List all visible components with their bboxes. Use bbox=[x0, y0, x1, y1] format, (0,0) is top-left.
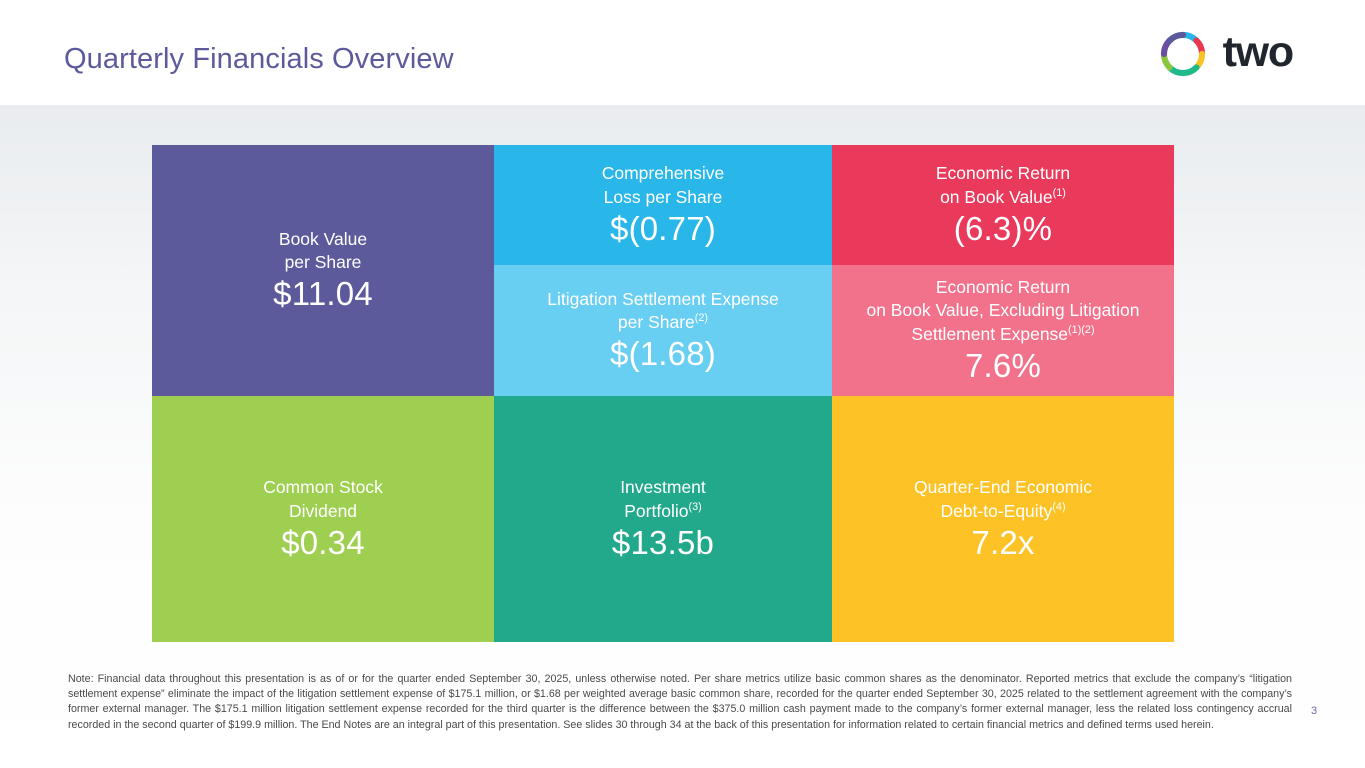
metric-footnote-ref: (4) bbox=[1052, 501, 1065, 513]
metric-label-line1: Economic Return bbox=[936, 277, 1070, 297]
metric-tile-quarter-end-economic-debt-to-equity[interactable]: Quarter-End Economic Debt-to-Equity(4) 7… bbox=[832, 396, 1174, 642]
metric-label-line1: Common Stock bbox=[263, 477, 383, 497]
metric-label: Common Stock Dividend bbox=[263, 476, 383, 523]
metric-tile-economic-return-excluding-litigation[interactable]: Economic Return on Book Value, Excluding… bbox=[832, 265, 1174, 396]
metric-value: (6.3)% bbox=[954, 211, 1052, 248]
metric-tile-comprehensive-loss-per-share[interactable]: Comprehensive Loss per Share $(0.77) bbox=[494, 145, 832, 265]
metric-label-line2: on Book Value bbox=[940, 187, 1053, 207]
metric-value: $(1.68) bbox=[610, 336, 716, 373]
metric-label-line1: Comprehensive bbox=[602, 163, 725, 183]
metric-value: $11.04 bbox=[273, 276, 373, 313]
metric-label: Investment Portfolio(3) bbox=[620, 476, 706, 523]
slide: Quarterly Financials Overview two bbox=[0, 0, 1365, 768]
metric-tile-investment-portfolio[interactable]: Investment Portfolio(3) $13.5b bbox=[494, 396, 832, 642]
metrics-grid: Book Value per Share $11.04 Comprehensiv… bbox=[152, 145, 1174, 642]
metric-label: Quarter-End Economic Debt-to-Equity(4) bbox=[914, 476, 1092, 523]
metric-label-line2: Debt-to-Equity bbox=[940, 501, 1052, 521]
metric-footnote-ref: (3) bbox=[688, 501, 701, 513]
page-title: Quarterly Financials Overview bbox=[64, 43, 454, 76]
metric-label-line1: Book Value bbox=[279, 229, 367, 249]
metric-tile-economic-return-on-book-value[interactable]: Economic Return on Book Value(1) (6.3)% bbox=[832, 145, 1174, 265]
company-logo: two bbox=[1155, 26, 1293, 82]
metric-tile-common-stock-dividend[interactable]: Common Stock Dividend $0.34 bbox=[152, 396, 494, 642]
metric-label-line2: Loss per Share bbox=[604, 187, 723, 207]
slide-header: Quarterly Financials Overview two bbox=[0, 0, 1365, 105]
metric-label-line2: on Book Value, Excluding Litigation bbox=[866, 300, 1139, 320]
metric-tile-litigation-settlement-expense-per-share[interactable]: Litigation Settlement Expense per Share(… bbox=[494, 265, 832, 396]
metric-value: $0.34 bbox=[281, 525, 365, 562]
metric-label-line1: Litigation Settlement Expense bbox=[547, 289, 779, 309]
two-harbors-star-icon bbox=[1155, 26, 1211, 82]
metric-footnote-ref: (1)(2) bbox=[1068, 324, 1095, 336]
metric-label-line1: Quarter-End Economic bbox=[914, 477, 1092, 497]
metric-footnote-ref: (2) bbox=[695, 312, 708, 324]
metric-label: Comprehensive Loss per Share bbox=[602, 162, 725, 209]
metric-label-line3: Settlement Expense bbox=[911, 324, 1068, 344]
metric-label: Economic Return on Book Value, Excluding… bbox=[866, 276, 1139, 346]
metric-label-line1: Economic Return bbox=[936, 163, 1070, 183]
metric-label-line2: per Share bbox=[618, 312, 695, 332]
metric-value: $13.5b bbox=[612, 525, 714, 562]
metric-value: 7.6% bbox=[965, 348, 1041, 385]
metric-label-line2: Portfolio bbox=[624, 501, 688, 521]
metric-label: Book Value per Share bbox=[279, 228, 367, 275]
page-number: 3 bbox=[1311, 705, 1317, 717]
metric-label-line1: Investment bbox=[620, 477, 706, 497]
metric-tile-book-value-per-share[interactable]: Book Value per Share $11.04 bbox=[152, 145, 494, 396]
metric-label-line2: Dividend bbox=[289, 501, 357, 521]
footnote-text: Note: Financial data throughout this pre… bbox=[68, 672, 1292, 733]
metric-footnote-ref: (1) bbox=[1053, 187, 1066, 199]
metric-label: Litigation Settlement Expense per Share(… bbox=[547, 288, 779, 335]
metric-label-line2: per Share bbox=[285, 252, 362, 272]
metric-label: Economic Return on Book Value(1) bbox=[936, 162, 1070, 209]
metric-value: 7.2x bbox=[971, 525, 1034, 562]
logo-wordmark: two bbox=[1223, 31, 1293, 77]
metric-value: $(0.77) bbox=[610, 211, 716, 248]
